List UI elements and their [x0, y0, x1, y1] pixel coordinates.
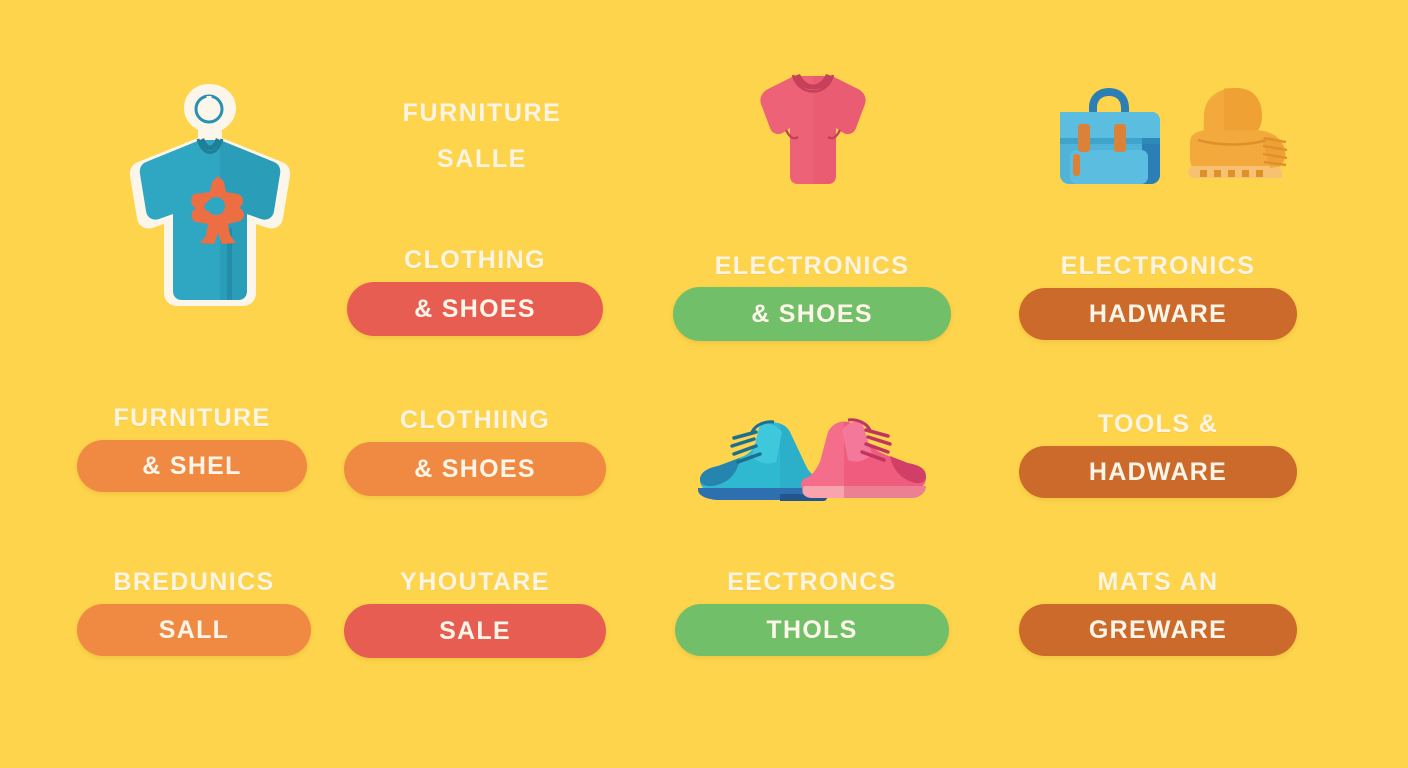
card-caption: ELECTRONICS: [715, 252, 910, 280]
card-caption: YHOUTARE: [400, 568, 550, 596]
card-caption: FURNITURE: [113, 404, 270, 432]
card-pill[interactable]: THOLS: [675, 604, 949, 656]
card-bredunics-sall[interactable]: BREDUNICS SALL: [74, 568, 314, 656]
headline-line-2: SALLE: [398, 136, 566, 182]
headline-block: FURNITURE SALLE: [398, 90, 566, 183]
card-pill[interactable]: & SHOES: [347, 282, 603, 336]
card-pill[interactable]: HADWARE: [1019, 446, 1297, 498]
card-pill[interactable]: SALL: [77, 604, 311, 656]
card-caption: ELECTRONICS: [1061, 252, 1256, 280]
card-caption: CLOTHING: [404, 246, 546, 274]
card-clothing-shoes[interactable]: CLOTHING & SHOES: [340, 246, 610, 336]
headline-line-1: FURNITURE: [398, 90, 566, 136]
card-tools-hadware[interactable]: TOOLS & HADWARE: [1018, 410, 1298, 498]
card-pill[interactable]: & SHOES: [344, 442, 606, 496]
pink-tshirt-icon: [746, 70, 878, 188]
card-caption: BREDUNICS: [113, 568, 274, 596]
card-pill[interactable]: & SHEL: [77, 440, 307, 492]
satchel-and-boots-icon: [1048, 82, 1298, 188]
card-clothiing-shoes[interactable]: CLOTHIING & SHOES: [340, 406, 610, 496]
card-mats-an-greware[interactable]: MATS AN GREWARE: [1018, 568, 1298, 656]
card-pill[interactable]: HADWARE: [1019, 288, 1297, 340]
card-caption: MATS AN: [1098, 568, 1219, 596]
card-yhoutare-sale[interactable]: YHOUTARE SALE: [340, 568, 610, 658]
card-furniture-shel[interactable]: FURNITURE & SHEL: [74, 404, 310, 492]
card-pill[interactable]: & SHOES: [673, 287, 951, 341]
card-eectroncs-thols[interactable]: EECTRONCS THOLS: [672, 568, 952, 656]
card-caption: EECTRONCS: [727, 568, 897, 596]
card-electronics-shoes[interactable]: ELECTRONICS & SHOES: [672, 252, 952, 341]
teal-tshirt-on-hanger-icon: [108, 78, 313, 313]
card-pill[interactable]: SALE: [344, 604, 606, 658]
poster-canvas: FURNITURE SALLE: [0, 0, 1408, 768]
card-electronics-hadware[interactable]: ELECTRONICS HADWARE: [1018, 252, 1298, 340]
blue-and-pink-sneakers-icon: [694, 410, 934, 510]
card-caption: TOOLS &: [1098, 410, 1218, 438]
card-caption: CLOTHIING: [400, 406, 550, 434]
card-pill[interactable]: GREWARE: [1019, 604, 1297, 656]
